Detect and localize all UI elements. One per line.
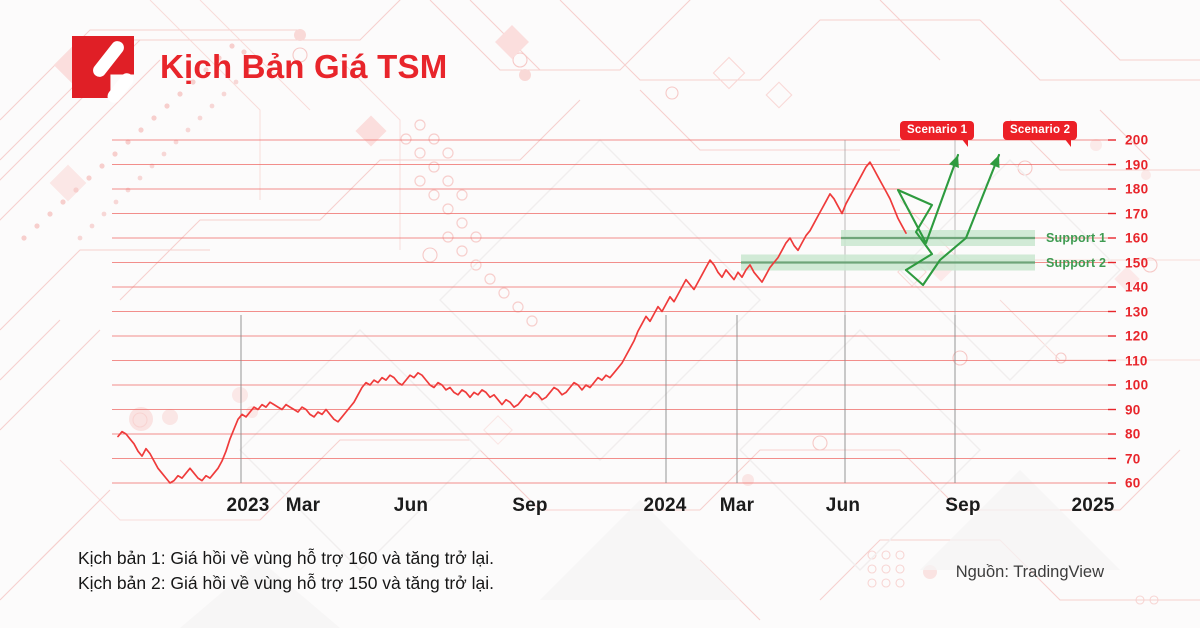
y-axis-label-170: 170 [1125, 206, 1148, 221]
y-axis-label-60: 60 [1125, 476, 1141, 491]
y-axis-label-140: 140 [1125, 280, 1148, 295]
support-label-150: Support 2 [1046, 256, 1106, 270]
scenario-note-2: Kịch bản 2: Giá hồi về vùng hỗ trợ 150 v… [78, 571, 494, 596]
price-chart-svg [0, 0, 1200, 628]
x-axis-label-2024: 2024 [643, 495, 686, 517]
y-axis-label-190: 190 [1125, 157, 1148, 172]
x-axis-label-2023: 2023 [226, 495, 269, 517]
scenario-notes: Kịch bản 1: Giá hồi về vùng hỗ trợ 160 v… [78, 546, 494, 597]
scenario-note-1: Kịch bản 1: Giá hồi về vùng hỗ trợ 160 v… [78, 546, 494, 571]
y-axis-label-160: 160 [1125, 231, 1148, 246]
price-series-path [118, 162, 906, 483]
y-axis-label-120: 120 [1125, 329, 1148, 344]
y-axis-tick-marks [1108, 140, 1116, 483]
x-axis-label-mar: Mar [286, 495, 320, 517]
y-axis-label-100: 100 [1125, 378, 1148, 393]
y-axis-label-90: 90 [1125, 402, 1141, 417]
x-axis-label-sep: Sep [945, 495, 980, 517]
price-line [118, 162, 906, 483]
y-axis-label-150: 150 [1125, 255, 1148, 270]
support-zones [741, 230, 1035, 271]
y-axis-label-180: 180 [1125, 182, 1148, 197]
x-axis-label-mar: Mar [720, 495, 754, 517]
y-axis-label-200: 200 [1125, 133, 1148, 148]
y-axis-label-80: 80 [1125, 427, 1141, 442]
y-axis-label-70: 70 [1125, 451, 1141, 466]
poster-root: Kịch Bản Giá TSM 20019018017016015014013… [0, 0, 1200, 628]
y-axis-label-130: 130 [1125, 304, 1148, 319]
x-axis-label-2025: 2025 [1071, 495, 1114, 517]
horizontal-gridlines [112, 140, 1108, 483]
y-axis-label-110: 110 [1125, 353, 1148, 368]
support-label-160: Support 1 [1046, 231, 1106, 245]
x-axis-label-jun: Jun [826, 495, 860, 517]
scenario-callout-1[interactable]: Scenario 1 [900, 121, 974, 140]
x-axis-label-sep: Sep [512, 495, 547, 517]
x-axis-label-jun: Jun [394, 495, 428, 517]
price-chart: 2001901801701601501401301201101009080706… [0, 0, 1200, 628]
scenario-callout-2[interactable]: Scenario 2 [1003, 121, 1077, 140]
source-attribution: Nguồn: TradingView [956, 563, 1104, 582]
scenario-arrowhead-1 [949, 155, 959, 168]
